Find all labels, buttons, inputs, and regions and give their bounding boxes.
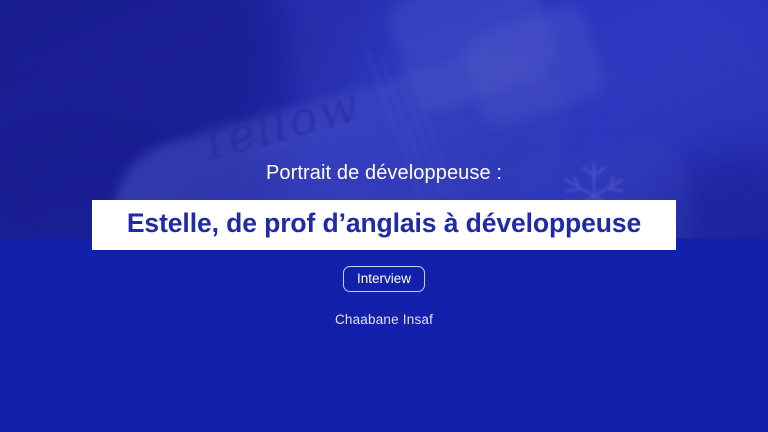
cover-content: Portrait de développeuse : Estelle, de p… [0,0,768,432]
article-cover-banner: Tellow [0,0,768,432]
cover-kicker: Portrait de développeuse : [266,163,502,183]
page-title: Estelle, de prof d’anglais à développeus… [114,209,654,239]
cover-title-plate: Estelle, de prof d’anglais à développeus… [92,200,676,250]
author-name: Chaabane Insaf [335,313,433,327]
status-badge[interactable]: Interview [343,266,425,293]
